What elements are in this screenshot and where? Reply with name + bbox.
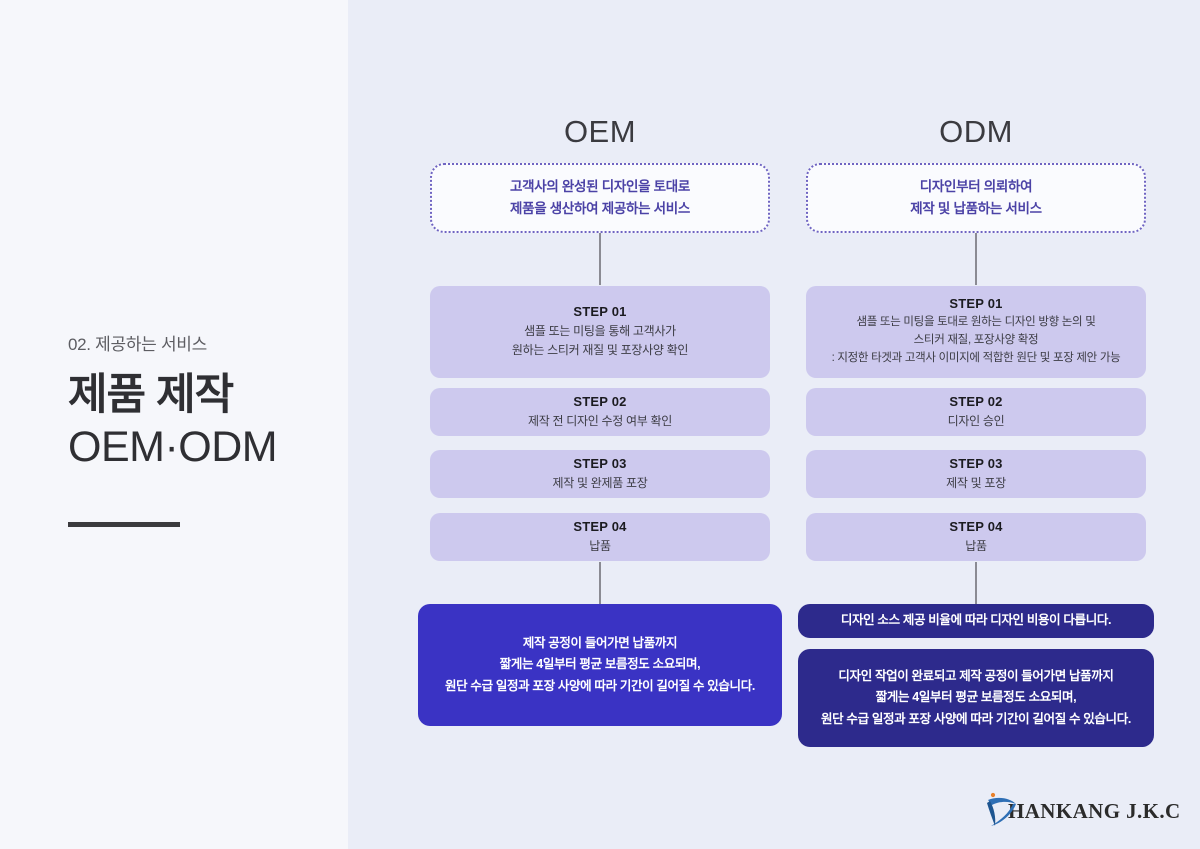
company-logo: HANKANG J.K.C bbox=[980, 790, 1181, 832]
step-description: 샘플 또는 미팅을 토대로 원하는 디자인 방향 논의 및 스티커 재질, 포장… bbox=[832, 314, 1121, 367]
section-eyebrow: 02. 제공하는 서비스 bbox=[68, 330, 328, 355]
step-description: 디자인 승인 bbox=[948, 412, 1005, 431]
note-text: 제작 공정이 들어가면 납품까지 짧게는 4일부터 평균 보름정도 소요되며, … bbox=[445, 633, 755, 698]
note-box-oem-summary: 제작 공정이 들어가면 납품까지 짧게는 4일부터 평균 보름정도 소요되며, … bbox=[418, 604, 782, 726]
description-text-oem: 고객사의 완성된 디자인을 토대로 제품을 생산하여 제공하는 서비스 bbox=[510, 176, 690, 219]
step-box-odm-01[interactable]: STEP 01 샘플 또는 미팅을 토대로 원하는 디자인 방향 논의 및 스티… bbox=[806, 286, 1146, 378]
note-box-odm-pricing: 디자인 소스 제공 비율에 따라 디자인 비용이 다릅니다. bbox=[798, 604, 1154, 638]
step-label: STEP 03 bbox=[573, 456, 626, 471]
step-box-oem-01[interactable]: STEP 01 샘플 또는 미팅을 통해 고객사가 원하는 스티커 재질 및 포… bbox=[430, 286, 770, 378]
step-description: 납품 bbox=[589, 537, 610, 556]
slide-root: 02. 제공하는 서비스 제품 제작 OEM·ODM OEM 고객사의 완성된 … bbox=[0, 0, 1200, 849]
connector-desc-to-step1-odm bbox=[975, 233, 977, 285]
step-box-odm-03[interactable]: STEP 03 제작 및 포장 bbox=[806, 450, 1146, 498]
step-description: 샘플 또는 미팅을 통해 고객사가 원하는 스티커 재질 및 포장사양 확인 bbox=[512, 322, 688, 359]
title-block: 02. 제공하는 서비스 제품 제작 OEM·ODM bbox=[68, 330, 328, 527]
left-title-panel: 02. 제공하는 서비스 제품 제작 OEM·ODM bbox=[0, 0, 348, 849]
column-heading-oem: OEM bbox=[430, 114, 770, 150]
step-box-odm-04[interactable]: STEP 04 납품 bbox=[806, 513, 1146, 561]
step-label: STEP 01 bbox=[573, 304, 626, 319]
connector-desc-to-step1-oem bbox=[599, 233, 601, 285]
page-title-english: OEM·ODM bbox=[68, 421, 328, 473]
step-box-oem-02[interactable]: STEP 02 제작 전 디자인 수정 여부 확인 bbox=[430, 388, 770, 436]
note-box-odm-summary: 디자인 작업이 완료되고 제작 공정이 들어가면 납품까지 짧게는 4일부터 평… bbox=[798, 649, 1154, 747]
step-description: 제작 전 디자인 수정 여부 확인 bbox=[528, 412, 672, 431]
step-box-oem-04[interactable]: STEP 04 납품 bbox=[430, 513, 770, 561]
connector-step4-to-note-odm bbox=[975, 562, 977, 604]
step-description: 제작 및 포장 bbox=[946, 474, 1006, 493]
step-description: 제작 및 완제품 포장 bbox=[552, 474, 647, 493]
step-label: STEP 04 bbox=[573, 519, 626, 534]
step-label: STEP 01 bbox=[949, 296, 1002, 311]
description-text-odm: 디자인부터 의뢰하여 제작 및 납품하는 서비스 bbox=[910, 176, 1042, 219]
description-box-odm: 디자인부터 의뢰하여 제작 및 납품하는 서비스 bbox=[806, 163, 1146, 233]
connector-step4-to-note-oem bbox=[599, 562, 601, 604]
content-panel: OEM 고객사의 완성된 디자인을 토대로 제품을 생산하여 제공하는 서비스 … bbox=[348, 0, 1200, 849]
step-box-oem-03[interactable]: STEP 03 제작 및 완제품 포장 bbox=[430, 450, 770, 498]
step-label: STEP 02 bbox=[573, 394, 626, 409]
step-label: STEP 02 bbox=[949, 394, 1002, 409]
page-title-korean: 제품 제작 bbox=[68, 369, 328, 421]
flow-columns: OEM 고객사의 완성된 디자인을 토대로 제품을 생산하여 제공하는 서비스 … bbox=[348, 0, 1200, 849]
logo-wordmark: HANKANG J.K.C bbox=[1008, 799, 1181, 824]
hankang-swoosh-icon bbox=[980, 790, 1022, 832]
step-description: 납품 bbox=[965, 537, 986, 556]
step-label: STEP 04 bbox=[949, 519, 1002, 534]
note-text: 디자인 작업이 완료되고 제작 공정이 들어가면 납품까지 짧게는 4일부터 평… bbox=[821, 666, 1131, 731]
step-label: STEP 03 bbox=[949, 456, 1002, 471]
column-heading-odm: ODM bbox=[806, 114, 1146, 150]
title-underline-rule bbox=[68, 522, 180, 527]
step-box-odm-02[interactable]: STEP 02 디자인 승인 bbox=[806, 388, 1146, 436]
description-box-oem: 고객사의 완성된 디자인을 토대로 제품을 생산하여 제공하는 서비스 bbox=[430, 163, 770, 233]
note-text: 디자인 소스 제공 비율에 따라 디자인 비용이 다릅니다. bbox=[841, 610, 1111, 632]
